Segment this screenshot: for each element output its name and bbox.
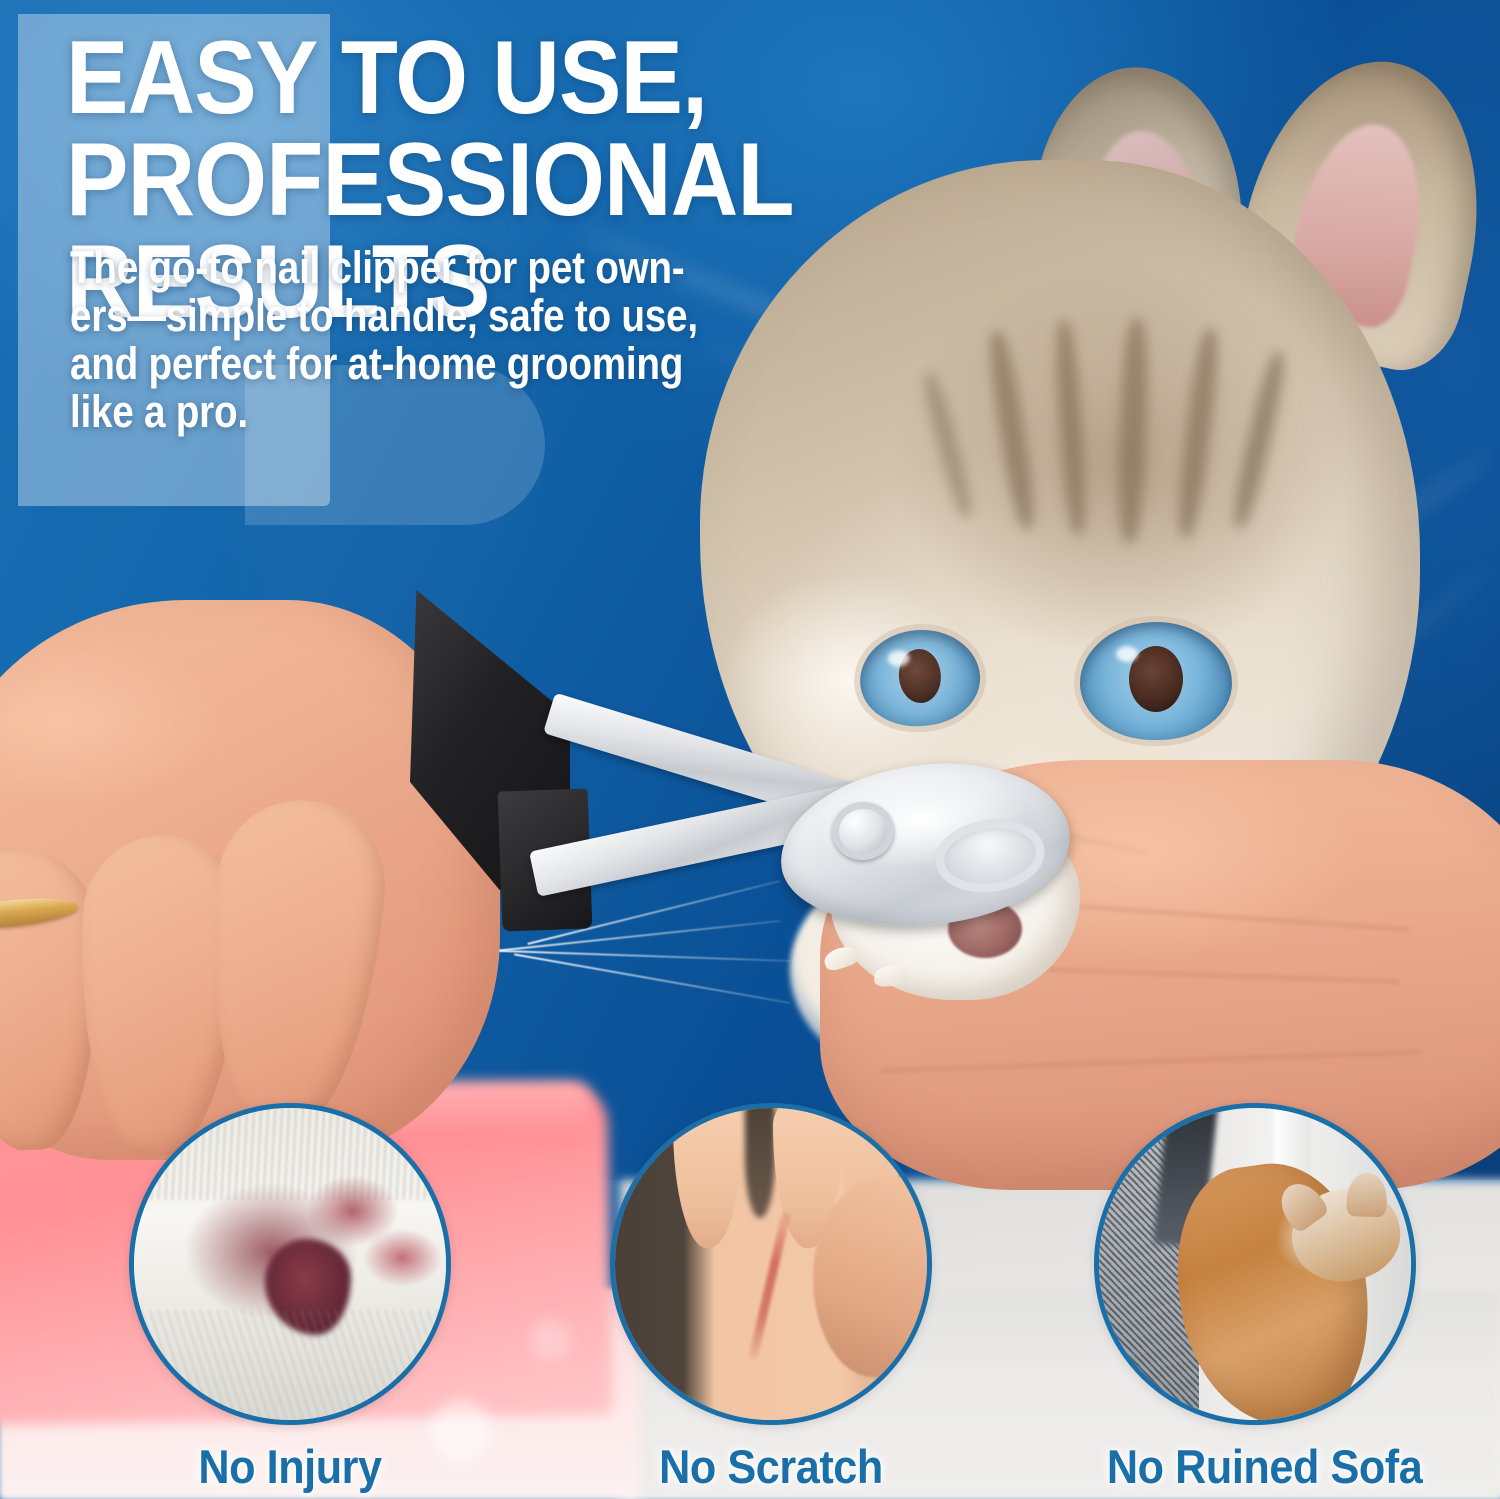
benefit-image-no-ruined-sofa [1094,1103,1416,1425]
cat-eye-right [1080,622,1232,740]
nail-clipper [400,580,1020,980]
benefit-image-no-scratch [610,1103,932,1425]
benefit-label-no-scratch: No Scratch [623,1439,919,1494]
benefit-image-no-injury [129,1103,451,1425]
benefit-label-no-injury: No Injury [142,1439,438,1494]
page-subtitle: The go-to nail clipper for pet own- ers—… [70,244,767,437]
product-marketing-image: EASY TO USE, PROFESSIONAL RESULTS The go… [0,0,1500,1499]
finger [196,793,392,1136]
benefit-label-no-ruined-sofa: No Ruined Sofa [1107,1439,1403,1494]
bokeh-dot [530,1320,570,1360]
benefit-no-injury: No Injury [129,1103,451,1425]
benefit-no-scratch: No Scratch [610,1103,932,1425]
benefit-no-ruined-sofa: No Ruined Sofa [1094,1103,1416,1425]
scratch-mark [748,1212,791,1360]
